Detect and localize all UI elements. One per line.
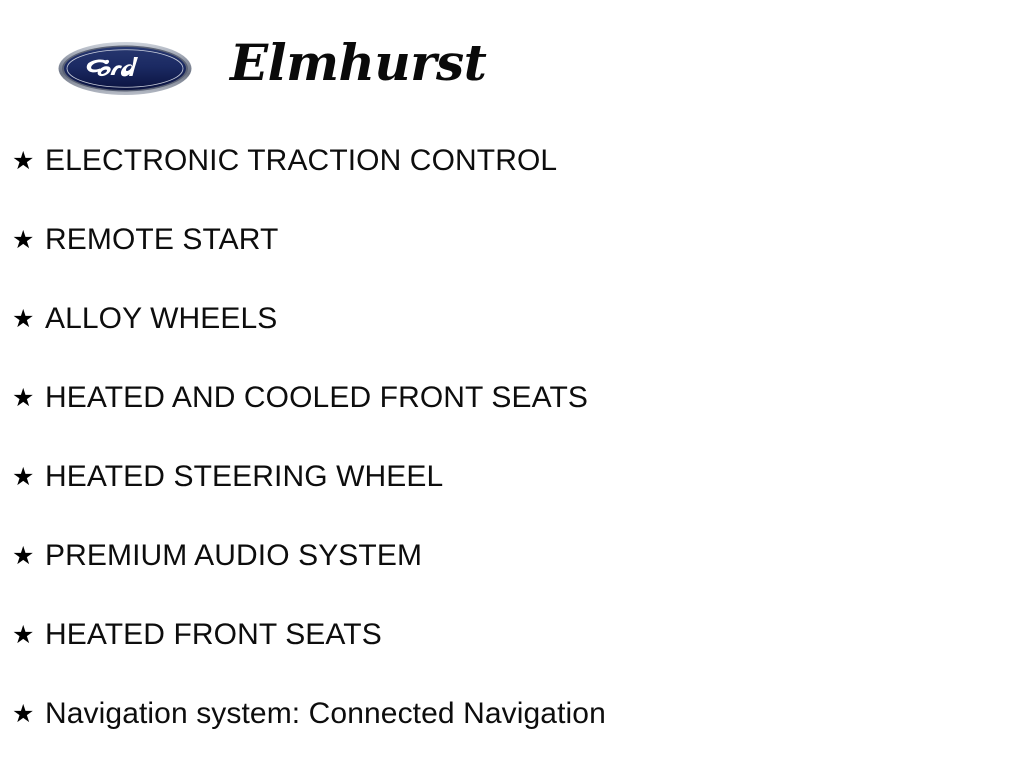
list-item: ★ HEATED FRONT SEATS xyxy=(0,614,1024,693)
list-item: ★ HEATED AND COOLED FRONT SEATS xyxy=(0,377,1024,456)
feature-label: HEATED STEERING WHEEL xyxy=(45,456,443,498)
list-item: ★ Navigation system: Connected Navigatio… xyxy=(0,693,1024,772)
feature-label: HEATED FRONT SEATS xyxy=(45,614,382,656)
star-icon: ★ xyxy=(12,535,34,577)
list-item: ★ ALLOY WHEELS xyxy=(0,298,1024,377)
vehicle-features-page: Elmhurst ★ ELECTRONIC TRACTION CONTROL ★… xyxy=(0,0,1024,768)
vehicle-feature-list: ★ ELECTRONIC TRACTION CONTROL ★ REMOTE S… xyxy=(0,140,1024,772)
dealer-name: Elmhurst xyxy=(230,33,486,93)
list-item: ★ REMOTE START xyxy=(0,219,1024,298)
star-icon: ★ xyxy=(12,456,34,498)
feature-label: HEATED AND COOLED FRONT SEATS xyxy=(45,377,588,419)
brand-header: Elmhurst xyxy=(0,0,1024,130)
list-item: ★ HEATED STEERING WHEEL xyxy=(0,456,1024,535)
star-icon: ★ xyxy=(12,298,34,340)
star-icon: ★ xyxy=(12,693,34,735)
list-item: ★ PREMIUM AUDIO SYSTEM xyxy=(0,535,1024,614)
feature-label: REMOTE START xyxy=(45,219,278,261)
star-icon: ★ xyxy=(12,377,34,419)
star-icon: ★ xyxy=(12,140,34,182)
feature-label: ELECTRONIC TRACTION CONTROL xyxy=(45,140,557,182)
star-icon: ★ xyxy=(12,614,34,656)
star-icon: ★ xyxy=(12,219,34,261)
feature-label: Navigation system: Connected Navigation xyxy=(45,693,606,735)
feature-label: ALLOY WHEELS xyxy=(45,298,277,340)
list-item: ★ ELECTRONIC TRACTION CONTROL xyxy=(0,140,1024,219)
ford-oval-logo xyxy=(58,41,192,96)
feature-label: PREMIUM AUDIO SYSTEM xyxy=(45,535,422,577)
